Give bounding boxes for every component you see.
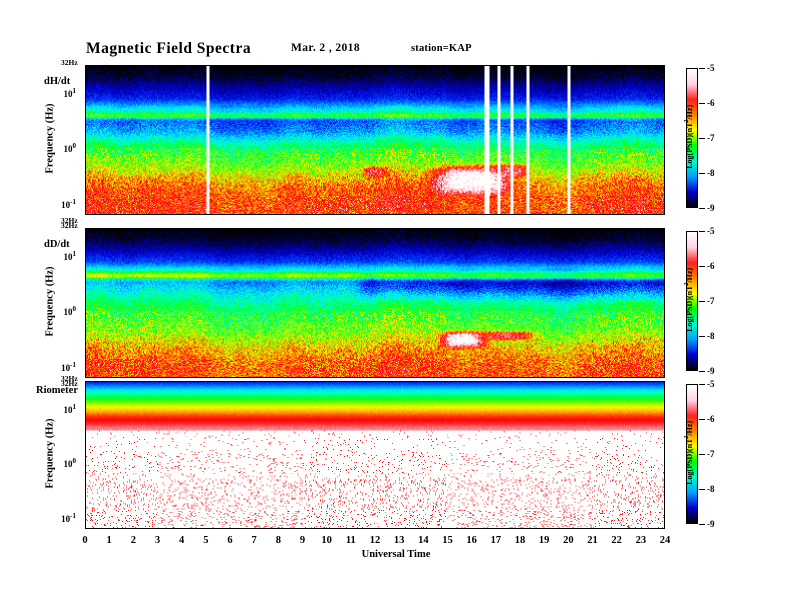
x-minor-tick xyxy=(120,65,121,66)
colorbar-tick-label: -8 xyxy=(707,331,715,341)
x-minor-tick xyxy=(226,381,227,382)
x-minor-tick xyxy=(288,65,289,66)
x-minor-tick xyxy=(240,214,241,215)
y-minor-tick xyxy=(664,466,665,467)
x-minor-tick xyxy=(346,528,347,529)
x-minor-tick xyxy=(524,528,525,529)
x-minor-tick xyxy=(515,228,516,229)
x-minor-tick xyxy=(240,65,241,66)
x-major-tick xyxy=(158,377,159,378)
x-minor-tick xyxy=(168,65,169,66)
colorbar-tick xyxy=(699,454,705,455)
x-minor-tick xyxy=(173,381,174,382)
x-minor-tick xyxy=(105,377,106,378)
x-minor-tick xyxy=(115,65,116,66)
x-minor-tick xyxy=(308,214,309,215)
x-minor-tick xyxy=(515,65,516,66)
y-major-tick xyxy=(664,257,665,258)
x-minor-tick xyxy=(548,214,549,215)
x-minor-tick xyxy=(438,528,439,529)
x-minor-tick xyxy=(534,228,535,229)
x-minor-tick xyxy=(510,65,511,66)
x-minor-tick xyxy=(553,381,554,382)
x-minor-tick xyxy=(389,528,390,529)
x-minor-tick xyxy=(553,65,554,66)
y-minor-tick xyxy=(85,285,86,286)
colorbar-tick-label: -6 xyxy=(707,414,715,424)
y-minor-tick xyxy=(664,157,665,158)
x-minor-tick xyxy=(659,214,660,215)
y-minor-tick xyxy=(85,160,86,161)
x-minor-tick xyxy=(269,65,270,66)
y-minor-tick xyxy=(664,77,665,78)
x-minor-tick xyxy=(216,228,217,229)
x-minor-tick xyxy=(389,377,390,378)
x-minor-tick xyxy=(346,377,347,378)
x-minor-tick xyxy=(370,381,371,382)
x-tick-label: 7 xyxy=(252,535,257,546)
x-minor-tick xyxy=(409,214,410,215)
x-major-tick xyxy=(110,528,111,529)
x-minor-tick xyxy=(100,381,101,382)
y-minor-tick xyxy=(664,501,665,502)
x-tick-label: 11 xyxy=(346,535,356,546)
colorbar-tick-label: -9 xyxy=(707,203,715,213)
x-minor-tick xyxy=(163,65,164,66)
x-minor-tick xyxy=(361,528,362,529)
x-minor-tick xyxy=(288,228,289,229)
x-minor-tick xyxy=(380,214,381,215)
x-major-tick xyxy=(182,214,183,215)
x-major-tick xyxy=(231,381,232,382)
x-major-tick xyxy=(640,228,641,229)
y-minor-tick xyxy=(85,157,86,158)
x-minor-tick xyxy=(250,528,251,529)
x-minor-tick xyxy=(611,228,612,229)
x-minor-tick xyxy=(115,381,116,382)
x-minor-tick xyxy=(462,214,463,215)
x-minor-tick xyxy=(529,214,530,215)
x-minor-tick xyxy=(505,65,506,66)
x-minor-tick xyxy=(178,528,179,529)
y-minor-tick xyxy=(664,269,665,270)
x-minor-tick xyxy=(659,65,660,66)
x-minor-tick xyxy=(611,381,612,382)
x-major-tick xyxy=(423,381,424,382)
x-minor-tick xyxy=(115,528,116,529)
y-minor-tick xyxy=(664,384,665,385)
y-minor-tick xyxy=(664,231,665,232)
x-major-tick xyxy=(592,65,593,66)
x-minor-tick xyxy=(606,381,607,382)
x-major-tick xyxy=(86,65,87,66)
x-minor-tick xyxy=(293,377,294,378)
x-minor-tick xyxy=(274,214,275,215)
x-minor-tick xyxy=(611,528,612,529)
x-minor-tick xyxy=(476,228,477,229)
x-minor-tick xyxy=(491,65,492,66)
x-minor-tick xyxy=(452,528,453,529)
x-minor-tick xyxy=(650,377,651,378)
x-major-tick xyxy=(447,377,448,378)
x-minor-tick xyxy=(418,228,419,229)
x-major-tick xyxy=(86,528,87,529)
x-minor-tick xyxy=(385,65,386,66)
x-major-tick xyxy=(327,228,328,229)
x-major-tick xyxy=(471,381,472,382)
x-major-tick xyxy=(110,65,111,66)
x-major-tick xyxy=(134,528,135,529)
x-minor-tick xyxy=(178,381,179,382)
x-minor-tick xyxy=(452,228,453,229)
x-minor-tick xyxy=(414,214,415,215)
x-minor-tick xyxy=(317,528,318,529)
x-minor-tick xyxy=(226,528,227,529)
x-minor-tick xyxy=(418,377,419,378)
x-major-tick xyxy=(544,381,545,382)
x-major-tick xyxy=(447,528,448,529)
x-minor-tick xyxy=(611,65,612,66)
x-major-tick xyxy=(544,214,545,215)
x-minor-tick xyxy=(659,228,660,229)
x-minor-tick xyxy=(548,377,549,378)
x-minor-tick xyxy=(125,381,126,382)
x-minor-tick xyxy=(625,228,626,229)
x-minor-tick xyxy=(553,528,554,529)
panel-dd-dt: 10110010-1 xyxy=(85,228,665,378)
x-major-tick xyxy=(568,528,569,529)
x-major-tick xyxy=(640,528,641,529)
y-minor-tick xyxy=(85,278,86,279)
x-minor-tick xyxy=(322,228,323,229)
x-minor-tick xyxy=(582,214,583,215)
x-minor-tick xyxy=(630,381,631,382)
x-minor-tick xyxy=(211,65,212,66)
colorbar-tick-label: -8 xyxy=(707,168,715,178)
y-minor-tick xyxy=(85,375,86,376)
x-minor-tick xyxy=(462,381,463,382)
x-minor-tick xyxy=(120,214,121,215)
y-minor-tick xyxy=(85,170,86,171)
x-major-tick xyxy=(158,528,159,529)
y-minor-tick xyxy=(85,369,86,370)
x-minor-tick xyxy=(308,528,309,529)
x-major-tick xyxy=(375,228,376,229)
x-major-tick xyxy=(640,377,641,378)
x-tick-label: 22 xyxy=(611,535,622,546)
y-minor-tick xyxy=(664,426,665,427)
x-major-tick xyxy=(592,377,593,378)
y-major-tick xyxy=(85,148,86,149)
x-minor-tick xyxy=(577,228,578,229)
x-minor-tick xyxy=(491,528,492,529)
x-minor-tick xyxy=(438,65,439,66)
x-minor-tick xyxy=(650,228,651,229)
x-minor-tick xyxy=(635,528,636,529)
x-minor-tick xyxy=(120,381,121,382)
x-minor-tick xyxy=(389,65,390,66)
x-minor-tick xyxy=(187,381,188,382)
x-minor-tick xyxy=(211,228,212,229)
x-minor-tick xyxy=(510,228,511,229)
y-major-tick xyxy=(664,409,665,410)
x-minor-tick xyxy=(597,214,598,215)
x-major-tick xyxy=(423,377,424,378)
x-minor-tick xyxy=(288,381,289,382)
y-minor-tick xyxy=(85,231,86,232)
page-title: Magnetic Field Spectra xyxy=(86,40,251,58)
x-minor-tick xyxy=(428,228,429,229)
x-minor-tick xyxy=(120,528,121,529)
colorbar-tick xyxy=(699,138,705,139)
x-minor-tick xyxy=(486,528,487,529)
x-minor-tick xyxy=(226,65,227,66)
x-minor-tick xyxy=(457,381,458,382)
x-minor-tick xyxy=(202,381,203,382)
x-minor-tick xyxy=(105,528,106,529)
x-major-tick xyxy=(520,377,521,378)
y-minor-tick xyxy=(85,447,86,448)
x-minor-tick xyxy=(288,377,289,378)
x-minor-tick xyxy=(178,65,179,66)
x-major-tick xyxy=(231,377,232,378)
x-minor-tick xyxy=(240,377,241,378)
x-minor-tick xyxy=(433,65,434,66)
y-minor-tick xyxy=(664,68,665,69)
station-label: station=KAP xyxy=(411,43,472,54)
y-minor-tick xyxy=(664,333,665,334)
x-minor-tick xyxy=(298,377,299,378)
x-minor-tick xyxy=(96,65,97,66)
x-minor-tick xyxy=(404,214,405,215)
x-minor-tick xyxy=(635,381,636,382)
x-minor-tick xyxy=(654,228,655,229)
x-tick-label: 0 xyxy=(82,535,87,546)
x-minor-tick xyxy=(173,65,174,66)
x-minor-tick xyxy=(654,214,655,215)
x-minor-tick xyxy=(428,377,429,378)
y-minor-tick xyxy=(664,447,665,448)
x-minor-tick xyxy=(149,377,150,378)
x-minor-tick xyxy=(216,214,217,215)
colorbar-tick-label: -8 xyxy=(707,484,715,494)
x-minor-tick xyxy=(597,377,598,378)
y-tick-label: 101 xyxy=(64,87,77,99)
x-minor-tick xyxy=(283,528,284,529)
x-major-tick xyxy=(471,228,472,229)
x-major-tick xyxy=(592,228,593,229)
x-minor-tick xyxy=(467,381,468,382)
x-major-tick xyxy=(110,377,111,378)
x-minor-tick xyxy=(601,381,602,382)
x-minor-tick xyxy=(650,65,651,66)
x-minor-tick xyxy=(621,381,622,382)
y-minor-tick xyxy=(664,431,665,432)
colorbar-tick xyxy=(699,103,705,104)
y-minor-tick xyxy=(85,414,86,415)
x-minor-tick xyxy=(139,381,140,382)
x-minor-tick xyxy=(404,228,405,229)
y-minor-tick xyxy=(664,414,665,415)
x-major-tick xyxy=(158,214,159,215)
y-major-tick xyxy=(85,311,86,312)
y-minor-tick xyxy=(85,115,86,116)
x-major-tick xyxy=(351,228,352,229)
x-major-tick xyxy=(399,65,400,66)
x-major-tick xyxy=(447,381,448,382)
x-minor-tick xyxy=(428,214,429,215)
x-major-tick xyxy=(255,528,256,529)
x-major-tick xyxy=(206,381,207,382)
y-minor-tick xyxy=(664,212,665,213)
x-minor-tick xyxy=(178,377,179,378)
x-major-tick xyxy=(495,377,496,378)
x-major-tick xyxy=(399,228,400,229)
x-minor-tick xyxy=(577,381,578,382)
y-minor-tick xyxy=(664,421,665,422)
y-minor-tick xyxy=(664,323,665,324)
x-minor-tick xyxy=(621,377,622,378)
x-minor-tick xyxy=(625,377,626,378)
figure-page: Magnetic Field Spectra Mar. 2 , 2018 sta… xyxy=(0,0,792,612)
x-major-tick xyxy=(592,214,593,215)
x-minor-tick xyxy=(645,228,646,229)
x-minor-tick xyxy=(539,214,540,215)
colorbar-tick-label: -9 xyxy=(707,366,715,376)
x-minor-tick xyxy=(510,377,511,378)
colorbar-title: Log(PSD)(nT2/Hz) xyxy=(684,403,694,503)
x-minor-tick xyxy=(197,528,198,529)
x-minor-tick xyxy=(635,214,636,215)
x-minor-tick xyxy=(341,528,342,529)
colorbar-tick xyxy=(699,336,705,337)
x-minor-tick xyxy=(288,214,289,215)
x-minor-tick xyxy=(192,228,193,229)
x-minor-tick xyxy=(380,377,381,378)
x-minor-tick xyxy=(409,228,410,229)
freq-top-label-3: 32Hz xyxy=(61,374,78,383)
y-minor-tick xyxy=(664,412,665,413)
x-minor-tick xyxy=(356,377,357,378)
x-minor-tick xyxy=(414,65,415,66)
x-minor-tick xyxy=(274,528,275,529)
x-minor-tick xyxy=(245,381,246,382)
x-minor-tick xyxy=(572,381,573,382)
y-minor-tick xyxy=(85,314,86,315)
x-minor-tick xyxy=(577,65,578,66)
x-minor-tick xyxy=(515,381,516,382)
x-minor-tick xyxy=(645,381,646,382)
x-major-tick xyxy=(303,228,304,229)
x-minor-tick xyxy=(173,528,174,529)
x-minor-tick xyxy=(129,228,130,229)
x-minor-tick xyxy=(245,65,246,66)
x-minor-tick xyxy=(129,214,130,215)
x-minor-tick xyxy=(187,214,188,215)
x-minor-tick xyxy=(442,381,443,382)
x-minor-tick xyxy=(317,381,318,382)
y-minor-tick xyxy=(664,154,665,155)
x-major-tick xyxy=(664,377,665,378)
x-tick-label: 17 xyxy=(491,535,502,546)
x-minor-tick xyxy=(153,528,154,529)
x-minor-tick xyxy=(293,381,294,382)
x-minor-tick xyxy=(197,377,198,378)
y-minor-tick xyxy=(85,475,86,476)
x-minor-tick xyxy=(433,228,434,229)
y-minor-tick xyxy=(664,485,665,486)
x-minor-tick xyxy=(341,381,342,382)
x-major-tick xyxy=(182,228,183,229)
x-minor-tick xyxy=(356,65,357,66)
x-minor-tick xyxy=(394,228,395,229)
y-minor-tick xyxy=(85,350,86,351)
colorbar-tick xyxy=(699,419,705,420)
x-minor-tick xyxy=(341,228,342,229)
x-minor-tick xyxy=(192,381,193,382)
x-minor-tick xyxy=(245,228,246,229)
spectrogram-dd-dt xyxy=(86,229,664,377)
x-minor-tick xyxy=(428,381,429,382)
x-major-tick xyxy=(375,65,376,66)
colorbar-title: Log(PSD)(nT2/Hz) xyxy=(684,87,694,187)
x-minor-tick xyxy=(414,228,415,229)
y-minor-tick xyxy=(85,177,86,178)
x-minor-tick xyxy=(139,377,140,378)
x-minor-tick xyxy=(486,214,487,215)
x-minor-tick xyxy=(120,377,121,378)
y-tick-label: 100 xyxy=(64,142,77,154)
x-major-tick xyxy=(640,214,641,215)
x-major-tick xyxy=(495,65,496,66)
x-major-tick xyxy=(303,65,304,66)
x-minor-tick xyxy=(312,214,313,215)
x-major-tick xyxy=(351,377,352,378)
x-minor-tick xyxy=(630,228,631,229)
x-minor-tick xyxy=(553,377,554,378)
x-major-tick xyxy=(279,228,280,229)
panel-label-riometer: Riometer xyxy=(36,385,78,396)
y-minor-tick xyxy=(85,106,86,107)
x-minor-tick xyxy=(452,381,453,382)
x-major-tick xyxy=(375,381,376,382)
y-minor-tick xyxy=(85,102,86,103)
x-minor-tick xyxy=(558,377,559,378)
x-major-tick xyxy=(351,381,352,382)
x-minor-tick xyxy=(500,528,501,529)
x-major-tick xyxy=(664,381,665,382)
x-minor-tick xyxy=(457,228,458,229)
x-minor-tick xyxy=(250,381,251,382)
y-major-tick xyxy=(85,366,86,367)
x-minor-tick xyxy=(481,381,482,382)
x-major-tick xyxy=(255,228,256,229)
x-major-tick xyxy=(495,214,496,215)
colorbar-tick-label: -5 xyxy=(707,63,715,73)
x-minor-tick xyxy=(312,381,313,382)
x-minor-tick xyxy=(500,228,501,229)
x-minor-tick xyxy=(129,528,130,529)
y-minor-tick xyxy=(85,122,86,123)
x-minor-tick xyxy=(125,528,126,529)
x-tick-label: 15 xyxy=(442,535,453,546)
x-minor-tick xyxy=(197,381,198,382)
y-minor-tick xyxy=(85,99,86,100)
x-minor-tick xyxy=(491,381,492,382)
x-minor-tick xyxy=(491,228,492,229)
x-minor-tick xyxy=(153,377,154,378)
x-minor-tick xyxy=(621,228,622,229)
